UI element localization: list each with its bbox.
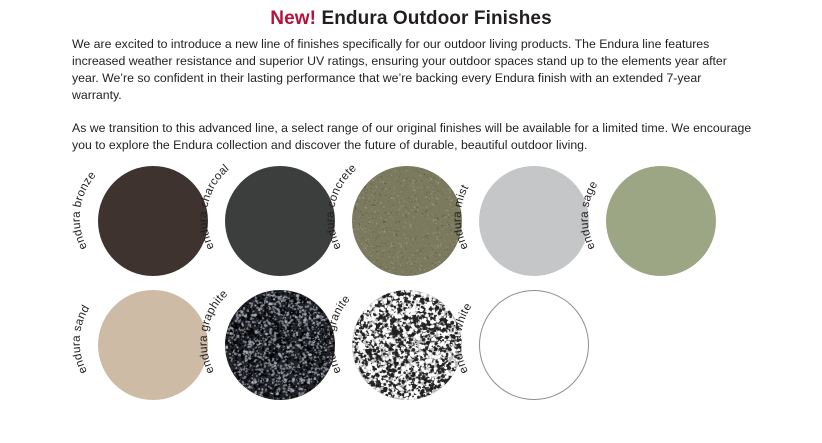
swatch-endura-white[interactable]: endura white <box>453 276 577 400</box>
swatch-disc-endura-granite[interactable] <box>352 290 462 400</box>
svg-text:endura sand: endura sand <box>70 303 93 376</box>
swatch-endura-bronze[interactable]: endura bronze <box>72 152 196 276</box>
swatch-row: endura bronzeendura charcoalendura concr… <box>0 152 822 276</box>
swatch-label-endura-sand: endura sand <box>70 303 93 376</box>
swatch-endura-charcoal[interactable]: endura charcoal <box>199 152 323 276</box>
swatch-label-endura-bronze: endura bronze <box>70 169 99 252</box>
swatch-disc-endura-mist[interactable] <box>479 166 589 276</box>
page-title: New! Endura Outdoor Finishes <box>0 0 822 30</box>
svg-text:endura graphite: endura graphite <box>197 287 231 376</box>
swatch-disc-endura-charcoal[interactable] <box>225 166 335 276</box>
finish-swatch-grid: endura bronzeendura charcoalendura concr… <box>0 152 822 400</box>
swatch-endura-sage[interactable]: endura sage <box>580 152 704 276</box>
swatch-endura-sand[interactable]: endura sand <box>72 276 196 400</box>
swatch-disc-endura-sand[interactable] <box>98 290 208 400</box>
swatch-endura-concrete[interactable]: endura concrete <box>326 152 450 276</box>
swatch-disc-endura-bronze[interactable] <box>98 166 208 276</box>
swatch-endura-graphite[interactable]: endura graphite <box>199 276 323 400</box>
intro-copy: We are excited to introduce a new line o… <box>72 36 752 154</box>
swatch-label-endura-white: endura white <box>451 301 475 376</box>
swatch-label-endura-sage: endura sage <box>578 179 601 252</box>
swatch-row: endura sandendura graphiteendura granite… <box>0 276 822 400</box>
swatch-label-endura-graphite: endura graphite <box>197 287 231 376</box>
intro-paragraph-1: We are excited to introduce a new line o… <box>72 36 752 104</box>
swatch-disc-endura-graphite[interactable] <box>225 290 335 400</box>
intro-paragraph-2: As we transition to this advanced line, … <box>72 120 752 154</box>
new-badge-label: New! <box>270 8 316 29</box>
svg-text:endura bronze: endura bronze <box>70 169 99 252</box>
swatch-label-endura-mist: endura mist <box>451 182 472 252</box>
swatch-endura-mist[interactable]: endura mist <box>453 152 577 276</box>
svg-text:endura sage: endura sage <box>578 179 601 252</box>
swatch-disc-endura-sage[interactable] <box>606 166 716 276</box>
swatch-label-endura-granite: endura granite <box>324 293 353 376</box>
swatch-disc-endura-white[interactable] <box>479 290 589 400</box>
swatch-endura-granite[interactable]: endura granite <box>326 276 450 400</box>
page-title-text: Endura Outdoor Finishes <box>321 8 551 29</box>
svg-text:endura mist: endura mist <box>451 182 472 252</box>
swatch-disc-endura-concrete[interactable] <box>352 166 462 276</box>
